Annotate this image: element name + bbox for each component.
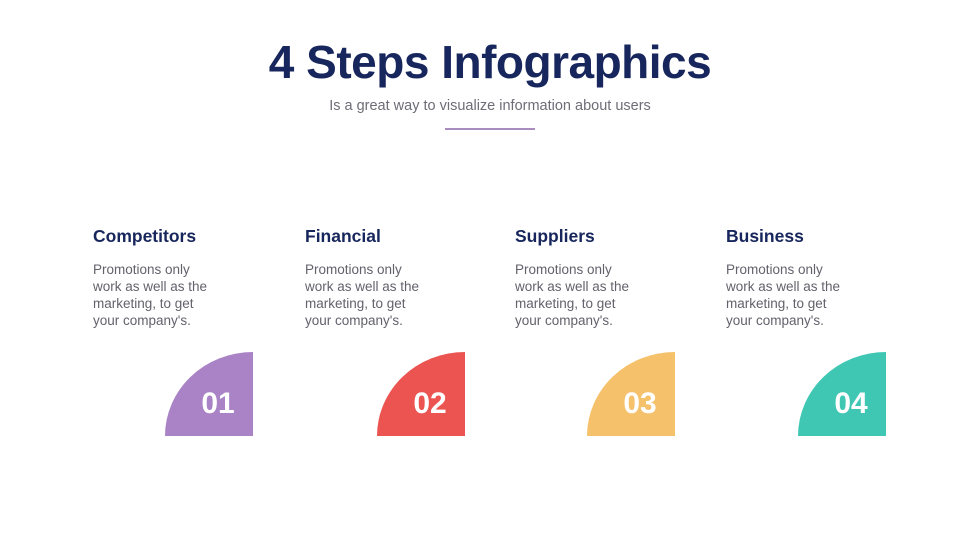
step-number-1: 01 (201, 389, 234, 419)
slide-header: 4 Steps Infographics Is a great way to v… (0, 38, 980, 116)
step-body-4: Promotions only work as well as the mark… (726, 261, 844, 329)
step-heading-3: Suppliers (515, 226, 730, 247)
step-heading-4: Business (726, 226, 941, 247)
step-item-1: Competitors Promotions only work as well… (93, 226, 308, 456)
step-body-2: Promotions only work as well as the mark… (305, 261, 423, 329)
step-number-3: 03 (623, 389, 656, 419)
step-badge-1: 01 (165, 352, 253, 436)
step-heading-2: Financial (305, 226, 520, 247)
step-badge-3: 03 (587, 352, 675, 436)
step-badge-2: 02 (377, 352, 465, 436)
step-heading-1: Competitors (93, 226, 308, 247)
infographic-slide: 4 Steps Infographics Is a great way to v… (0, 0, 980, 551)
step-number-4: 04 (834, 389, 867, 419)
step-item-3: Suppliers Promotions only work as well a… (515, 226, 730, 456)
step-body-3: Promotions only work as well as the mark… (515, 261, 633, 329)
page-title: 4 Steps Infographics (0, 38, 980, 86)
steps-row: Competitors Promotions only work as well… (0, 226, 980, 456)
step-badge-4: 04 (798, 352, 886, 436)
step-number-2: 02 (413, 389, 446, 419)
page-subtitle: Is a great way to visualize information … (0, 98, 980, 115)
step-body-1: Promotions only work as well as the mark… (93, 261, 211, 329)
title-divider (445, 128, 535, 130)
step-item-2: Financial Promotions only work as well a… (305, 226, 520, 456)
step-item-4: Business Promotions only work as well as… (726, 226, 941, 456)
